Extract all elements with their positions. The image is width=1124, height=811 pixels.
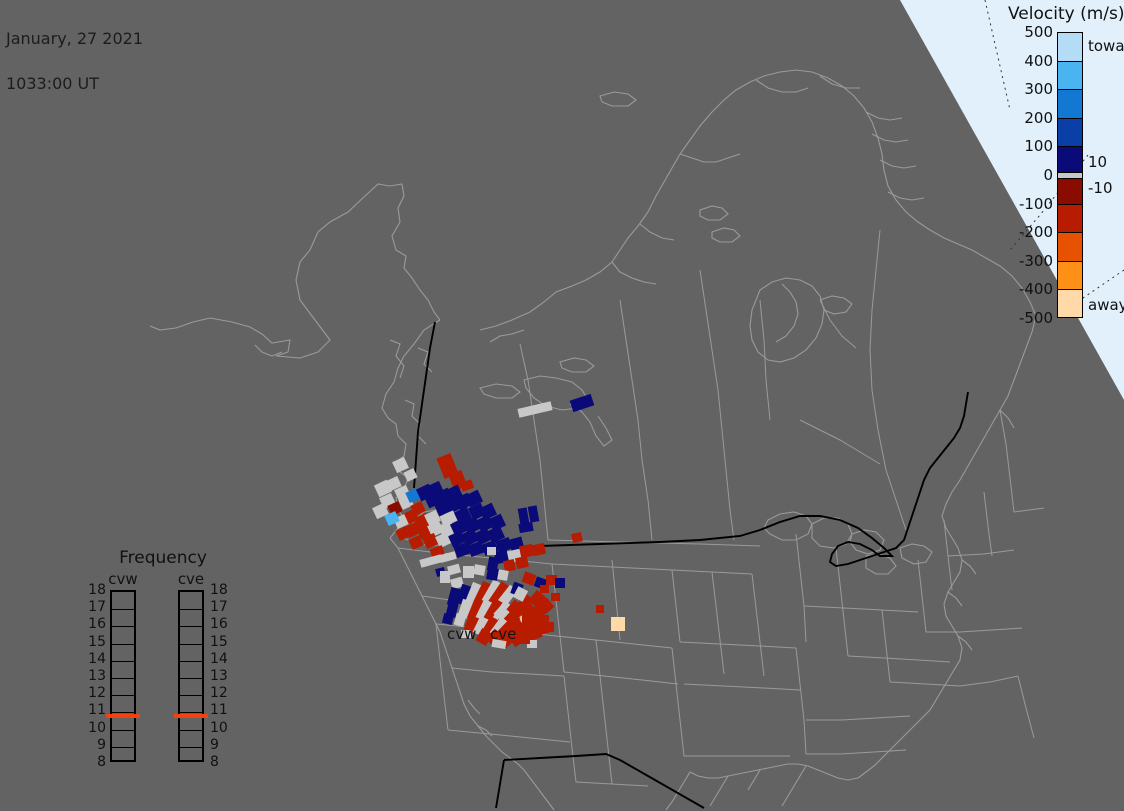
velocity-center-upper-label: 10 [1088,153,1107,171]
frequency-gridline [112,678,134,679]
velocity-tick--200: -200 [1019,223,1053,241]
frequency-scale-label-left-16: 16 [88,616,106,632]
frequency-scale-label-left-11: 11 [88,702,106,718]
frequency-gridline [112,644,134,645]
frequency-marker-cvw [106,714,140,718]
frequency-scale-label-left-15: 15 [88,634,106,650]
velocity-cell [473,564,486,576]
velocity-cell [440,571,450,583]
frequency-scale-label-left-9: 9 [88,737,106,753]
frequency-gridline [112,661,134,662]
velocity-tick--500: -500 [1019,309,1053,327]
frequency-gridline [112,747,134,748]
velocity-tick--100: -100 [1019,195,1053,213]
velocity-cell [419,554,442,567]
site-label-cvw: cvw [447,625,476,643]
velocity-colorbar-title: Velocity (m/s) [1008,4,1124,24]
frequency-gridline [180,644,202,645]
timestamp-date: January, 27 2021 [6,31,143,46]
velocity-tick-0: 0 [1043,166,1053,184]
frequency-gridline [180,747,202,748]
velocity-band-500-to-400 [1057,32,1083,61]
velocity-cell [528,505,540,522]
frequency-gridline [180,626,202,627]
frequency-scale-label-right-15: 15 [210,634,228,650]
velocity-band--300-to--400 [1057,261,1083,290]
frequency-scale-label-left-14: 14 [88,651,106,667]
velocity-cell [570,394,595,412]
frequency-scale-label-left-10: 10 [88,720,106,736]
velocity-away-label: away [1088,296,1124,314]
velocity-cell [517,401,552,417]
velocity-cell [486,567,499,581]
velocity-cell [503,559,516,572]
velocity-tick-400: 400 [1024,52,1053,70]
frequency-scale-label-right-12: 12 [210,685,228,701]
frequency-gridline [112,626,134,627]
timestamp-time: 1033:00 UT [6,76,143,91]
velocity-cell [611,617,625,631]
velocity-band--100-to--200 [1057,204,1083,233]
velocity-tick-200: 200 [1024,109,1053,127]
velocity-cell [403,468,417,482]
frequency-scale-label-right-8: 8 [210,754,219,770]
frequency-gridline [180,695,202,696]
frequency-scale-label-right-11: 11 [210,702,228,718]
frequency-scale-label-left-18: 18 [88,582,106,598]
velocity-cell [535,615,549,633]
velocity-colorbar-panel: Velocity (m/s) 5004003002001000-100-200-… [1000,2,1124,332]
frequency-scale-label-right-16: 16 [210,616,228,632]
velocity-tick-300: 300 [1024,80,1053,98]
velocity-tick--300: -300 [1019,252,1053,270]
velocity-cell [532,543,546,556]
velocity-toward-label: toward [1088,37,1124,55]
frequency-column-title-cve: cve [166,570,216,588]
velocity-cell [522,607,536,627]
velocity-band--200-to--300 [1057,232,1083,261]
velocity-cell [463,566,474,578]
velocity-center-lower-label: -10 [1088,179,1113,197]
velocity-cell [518,507,530,524]
velocity-cell [392,457,409,473]
site-label-cve: cve [490,625,516,643]
frequency-gridline [180,609,202,610]
velocity-band--400-to--500 [1057,289,1083,318]
velocity-tick--400: -400 [1019,280,1053,298]
velocity-colorbar-bands [1057,32,1083,318]
frequency-scale-label-right-9: 9 [210,737,219,753]
frequency-gridline [112,695,134,696]
frequency-gridline [112,609,134,610]
frequency-scale-label-left-8: 8 [88,754,106,770]
frequency-scale-label-right-10: 10 [210,720,228,736]
velocity-band-400-to-300 [1057,61,1083,90]
velocity-cell [521,571,536,585]
velocity-cell [555,578,565,588]
frequency-bar-cve [178,590,204,762]
velocity-band-300-to-200 [1057,89,1083,118]
frequency-scale-label-left-17: 17 [88,599,106,615]
frequency-scale-label-right-13: 13 [210,668,228,684]
velocity-cell [596,605,604,613]
frequency-gridline [180,661,202,662]
velocity-cell [551,593,560,601]
frequency-scale-label-right-17: 17 [210,599,228,615]
fan-plot-window: January, 27 2021 1033:00 UT cvw cve Velo… [0,0,1124,811]
velocity-band-100-to-10 [1057,146,1083,172]
velocity-band--10-to--100 [1057,178,1083,204]
frequency-marker-cve [174,714,208,718]
velocity-cell [487,547,496,555]
velocity-band-200-to-100 [1057,118,1083,147]
frequency-legend-title: Frequency [88,548,238,568]
frequency-legend-panel: Frequency cvw cve 18171615141312111098 1… [88,548,238,788]
velocity-cell [540,585,549,593]
frequency-gridline [180,730,202,731]
frequency-scale-label-right-18: 18 [210,582,228,598]
frequency-gridline [180,678,202,679]
timestamp-block: January, 27 2021 1033:00 UT [6,1,143,121]
frequency-scale-label-left-13: 13 [88,668,106,684]
velocity-tick-100: 100 [1024,137,1053,155]
frequency-gridline [112,730,134,731]
frequency-scale-label-right-14: 14 [210,651,228,667]
velocity-tick-500: 500 [1024,23,1053,41]
velocity-cell [571,532,583,543]
frequency-bar-cvw [110,590,136,762]
frequency-scale-label-left-12: 12 [88,685,106,701]
